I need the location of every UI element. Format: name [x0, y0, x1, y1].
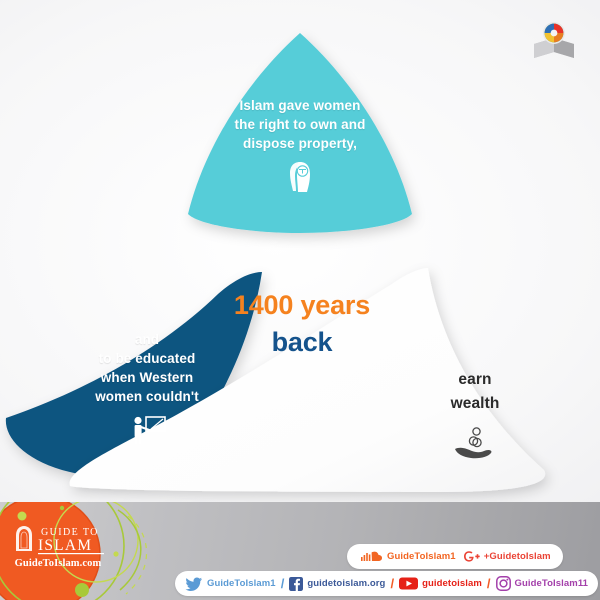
logo-url-text: GuideToIslam.com	[8, 558, 108, 569]
social-link-googleplus[interactable]: +GuidetoIslam	[463, 550, 551, 564]
social-link-youtube[interactable]: guidetoislam	[399, 577, 482, 590]
teacher-blackboard-icon	[52, 414, 242, 446]
white-line-2: wealth	[390, 392, 560, 416]
youtube-icon	[399, 577, 418, 590]
white-petal-text: earn wealth	[390, 368, 560, 462]
social-label-twitter: GuideToIslam1	[207, 578, 276, 589]
separator-2: /	[390, 576, 394, 591]
separator-1: /	[281, 576, 285, 591]
teal-line-1: Islam gave women	[200, 96, 400, 115]
white-line-1: earn	[390, 368, 560, 392]
woman-hijab-icon	[200, 160, 400, 194]
navy-line-3: when Western	[52, 368, 242, 387]
social-label-instagram: GuideToIslam11	[515, 578, 589, 589]
headline-line-1: 1400 years	[196, 291, 408, 319]
social-link-facebook[interactable]: guidetoislam.org	[289, 577, 385, 591]
social-label-googleplus: +GuidetoIslam	[484, 551, 551, 562]
google-plus-icon	[463, 550, 480, 564]
social-label-facebook: guidetoislam.org	[307, 578, 385, 589]
headline-line-2: back	[196, 325, 408, 360]
hand-with-coins-icon	[390, 424, 560, 462]
twitter-icon	[185, 577, 203, 591]
navy-line-4: women couldn't	[52, 387, 242, 406]
soundcloud-icon	[361, 550, 383, 563]
teal-petal-text: Islam gave women the right to own and di…	[200, 96, 400, 194]
instagram-icon	[496, 576, 511, 591]
social-link-soundcloud[interactable]: GuideToIslam1	[361, 550, 456, 563]
logo-wordmark-icon: GUIDE TO ISLAM	[8, 524, 108, 556]
social-link-instagram[interactable]: GuideToIslam11	[496, 576, 589, 591]
svg-text:ISLAM: ISLAM	[38, 537, 92, 554]
facebook-icon	[289, 577, 303, 591]
guide-to-islam-logo[interactable]: GUIDE TO ISLAM GuideToIslam.com	[0, 502, 112, 600]
social-pill-bottom: GuideToIslam1 / guidetoislam.org / guide…	[175, 571, 598, 596]
social-label-soundcloud: GuideToIslam1	[387, 551, 456, 562]
infographic-canvas: Islam gave women the right to own and di…	[0, 0, 600, 600]
teal-line-3: dispose property,	[200, 134, 400, 153]
social-label-youtube: guidetoislam	[422, 578, 482, 589]
teal-line-2: the right to own and	[200, 115, 400, 134]
social-link-twitter[interactable]: GuideToIslam1	[185, 577, 276, 591]
separator-3: /	[487, 576, 491, 591]
social-pill-top: GuideToIslam1 +GuidetoIslam	[347, 544, 563, 569]
headline: 1400 years back	[196, 291, 408, 360]
